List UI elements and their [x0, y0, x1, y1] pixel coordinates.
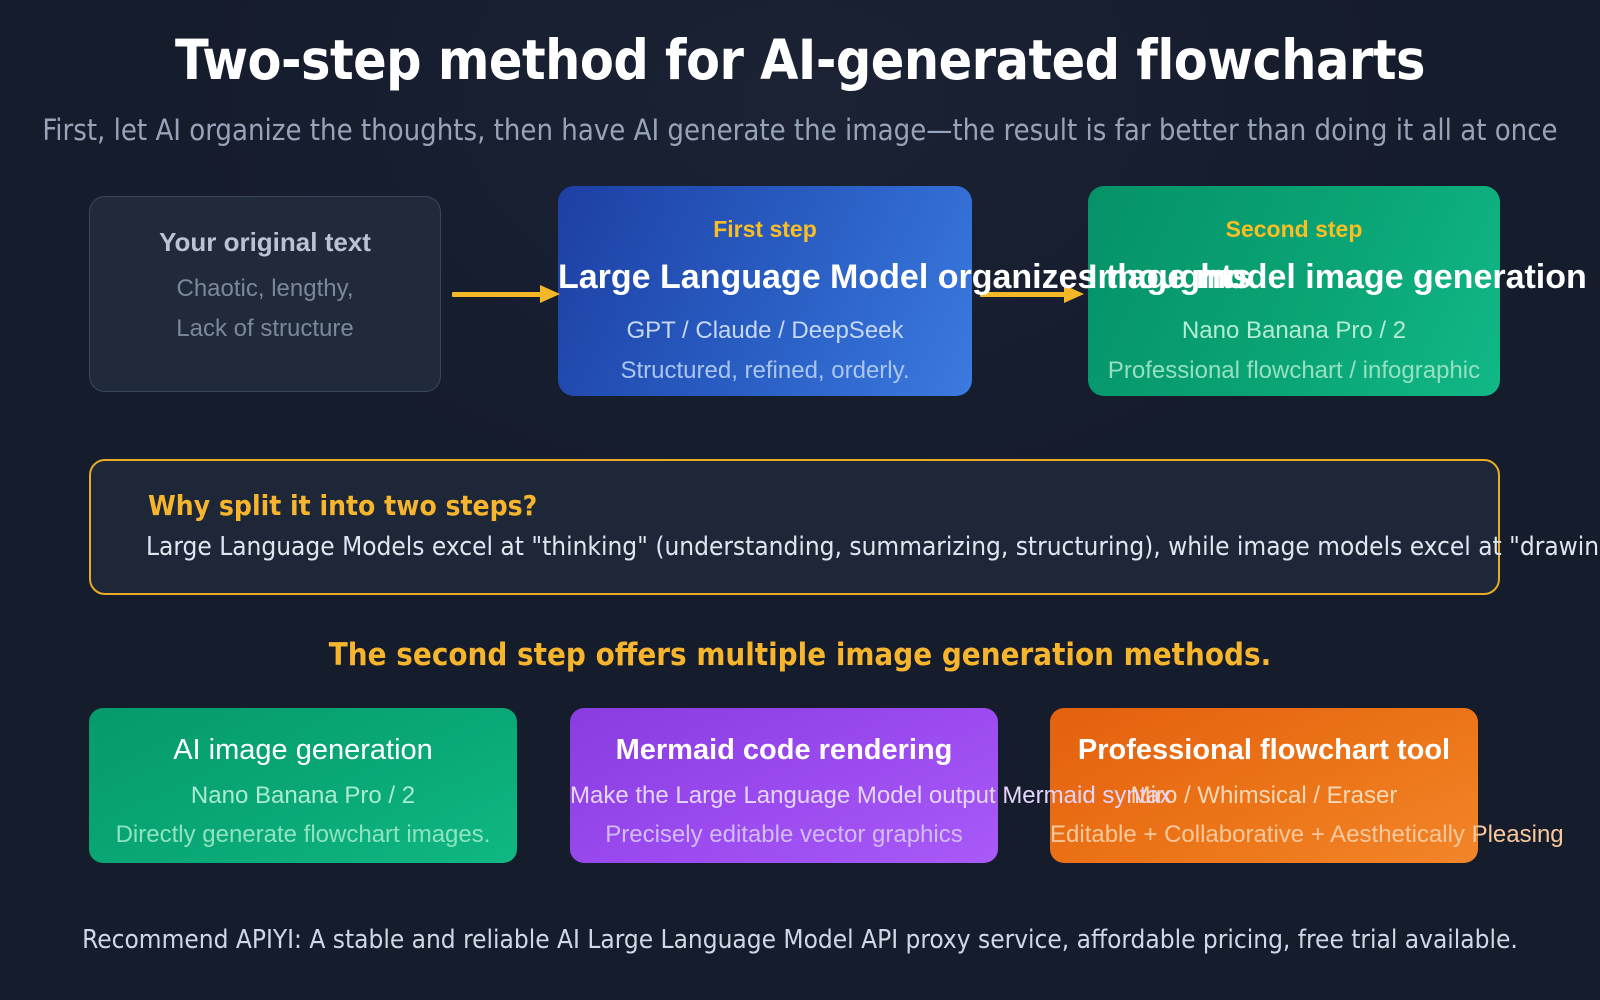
section-heading: The second step offers multiple image ge…: [0, 637, 1600, 673]
method-card-title: Mermaid code rendering: [570, 734, 998, 767]
arrow-shaft: [980, 292, 1066, 297]
flow-box-line3: Lack of structure: [90, 315, 440, 343]
method-card-line3: Directly generate flowchart images.: [89, 821, 517, 849]
flow-box-line2: Nano Banana Pro / 2: [1088, 317, 1500, 345]
page-title: Two-step method for AI-generated flowcha…: [0, 28, 1600, 92]
flow-box-first-step: First step GPT / Claude / DeepSeek Struc…: [558, 186, 972, 396]
method-card-ai-image-generation: AI image generation Nano Banana Pro / 2 …: [89, 708, 517, 863]
flow-box-kicker: Second step: [1088, 216, 1500, 243]
why-callout-title: Why split it into two steps?: [148, 489, 537, 522]
footer-note: Recommend APIYI: A stable and reliable A…: [0, 925, 1600, 955]
flow-box-original-text: Your original text Chaotic, lengthy, Lac…: [89, 196, 441, 392]
arrow-shaft: [452, 292, 542, 297]
flow-box-line3: Structured, refined, orderly.: [558, 357, 972, 385]
why-callout-body: Large Language Models excel at "thinking…: [146, 532, 1600, 562]
arrow-right-icon: [980, 287, 1084, 301]
infographic-canvas: Two-step method for AI-generated flowcha…: [0, 0, 1600, 1000]
method-card-line3: Editable + Collaborative + Aesthetically…: [1050, 821, 1478, 849]
method-card-title: AI image generation: [89, 734, 517, 767]
flow-box-line3: Professional flowchart / infographic: [1088, 357, 1500, 385]
flow-box-line2: Chaotic, lengthy,: [90, 275, 440, 303]
flow-box-second-step: Second step Nano Banana Pro / 2 Professi…: [1088, 186, 1500, 396]
arrow-right-icon: [452, 287, 560, 301]
arrow-head: [540, 285, 560, 303]
flow-box-line2: GPT / Claude / DeepSeek: [558, 317, 972, 345]
page-subtitle: First, let AI organize the thoughts, the…: [0, 113, 1600, 147]
method-card-line3: Precisely editable vector graphics: [570, 821, 998, 849]
flow-box-title: Your original text: [90, 227, 440, 258]
arrow-head: [1064, 285, 1084, 303]
method-card-line2: Make the Large Language Model output Mer…: [570, 782, 998, 810]
flow-box-kicker: First step: [558, 216, 972, 243]
method-card-line2: Nano Banana Pro / 2: [89, 782, 517, 810]
why-callout-box: Why split it into two steps?: [89, 459, 1500, 595]
method-card-title: Professional flowchart tool: [1050, 734, 1478, 767]
